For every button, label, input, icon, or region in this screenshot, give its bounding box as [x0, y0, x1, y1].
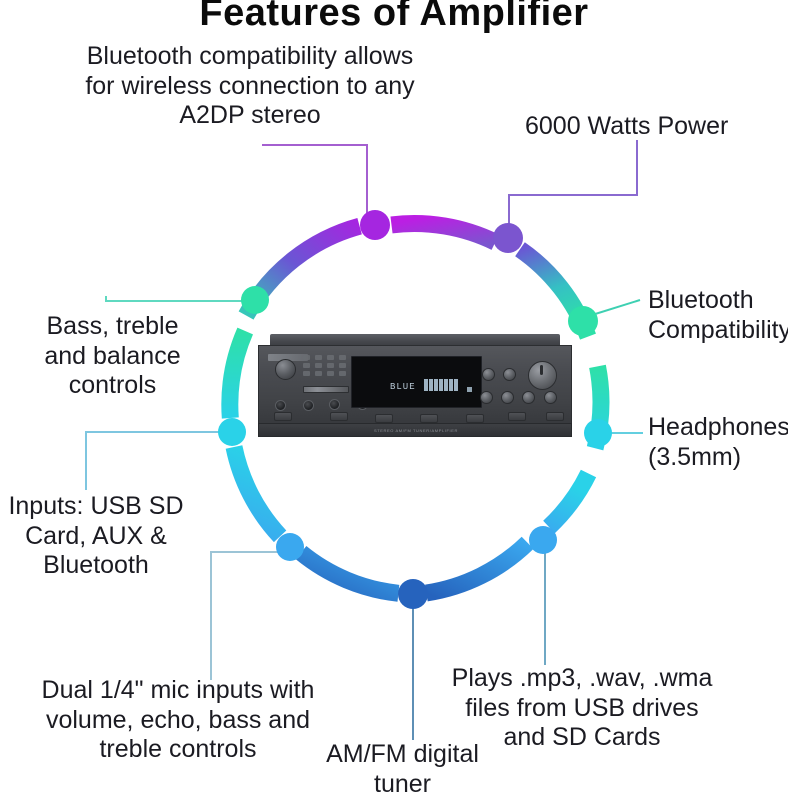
node-dot-inputs[interactable]	[218, 418, 246, 446]
feature-label-watts: 6000 Watts Power	[525, 112, 775, 142]
amplifier-model-text: STEREO AM/FM TUNER/AMPLIFIER	[259, 428, 573, 433]
node-dot-plays-files[interactable]	[529, 526, 557, 554]
amplifier-aux-jack	[303, 400, 314, 411]
amplifier-button-2	[330, 412, 348, 421]
connector-mic-inputs	[211, 552, 289, 680]
connector-bass-treble	[106, 296, 246, 301]
amplifier-mic-jack-1	[275, 400, 286, 411]
amplifier-button-1	[274, 412, 292, 421]
node-dot-headphones[interactable]	[584, 419, 612, 447]
amplifier-display: BLUE	[351, 356, 482, 408]
amplifier-knob-treble	[501, 391, 514, 404]
node-dot-mic-inputs[interactable]	[276, 533, 304, 561]
node-dot-watts[interactable]	[493, 223, 523, 253]
connector-bluetooth-compat	[592, 300, 640, 315]
amplifier-knob-a	[482, 368, 495, 381]
amplifier-knob-balance	[544, 391, 557, 404]
amplifier-button-3	[375, 414, 393, 423]
amplifier-product-image: BLUE STEREO AM/FM TUNER/AMPLIFIER	[258, 334, 572, 438]
amplifier-button-5	[466, 414, 484, 423]
feature-label-bluetooth-compatibility: Bluetooth Compatibility	[648, 286, 788, 345]
ring-segment-9	[230, 331, 245, 418]
amplifier-keypad	[303, 355, 348, 376]
amplifier-knob-bass	[480, 391, 493, 404]
amplifier-mic-jack-2	[329, 399, 340, 410]
ring-segment-2	[392, 223, 496, 242]
connector-watts	[509, 140, 637, 229]
amplifier-button-6	[508, 412, 526, 421]
amplifier-usb-sd-slot	[303, 386, 349, 393]
amplifier-volume-knob	[275, 359, 296, 380]
amplifier-button-7	[546, 412, 564, 421]
amplifier-knob-echo	[522, 391, 535, 404]
amplifier-knob-b	[503, 368, 516, 381]
amplifier-display-indicator	[467, 387, 472, 392]
amplifier-button-4	[420, 414, 438, 423]
connector-bluetooth-note	[262, 145, 367, 215]
feature-label-headphones: Headphones (3.5mm)	[648, 413, 788, 472]
feature-label-bluetooth-note: Bluetooth compatibility allows for wirel…	[55, 42, 445, 131]
amplifier-level-meter	[424, 379, 458, 391]
node-dot-am-fm[interactable]	[398, 579, 428, 609]
feature-label-bass-treble: Bass, treble and balance controls	[10, 312, 215, 401]
feature-label-inputs: Inputs: USB SD Card, AUX & Bluetooth	[0, 492, 196, 581]
ring-segment-5	[549, 474, 589, 528]
feature-label-mic-inputs: Dual 1/4" mic inputs with volume, echo, …	[8, 676, 348, 765]
ring-segment-6	[426, 543, 527, 593]
infographic-root: Features of Amplifier	[0, 0, 788, 797]
ring-segment-7	[301, 553, 398, 594]
amplifier-display-text: BLUE	[390, 382, 416, 392]
ring-segment-8	[234, 447, 280, 536]
node-dot-bluetooth-compatibility[interactable]	[568, 306, 598, 336]
connector-inputs	[86, 432, 222, 490]
node-dot-bluetooth-note[interactable]	[360, 210, 390, 240]
amplifier-master-knob	[528, 361, 557, 390]
node-dot-bass-treble[interactable]	[241, 286, 269, 314]
amplifier-bottom-strip: STEREO AM/FM TUNER/AMPLIFIER	[258, 423, 572, 437]
